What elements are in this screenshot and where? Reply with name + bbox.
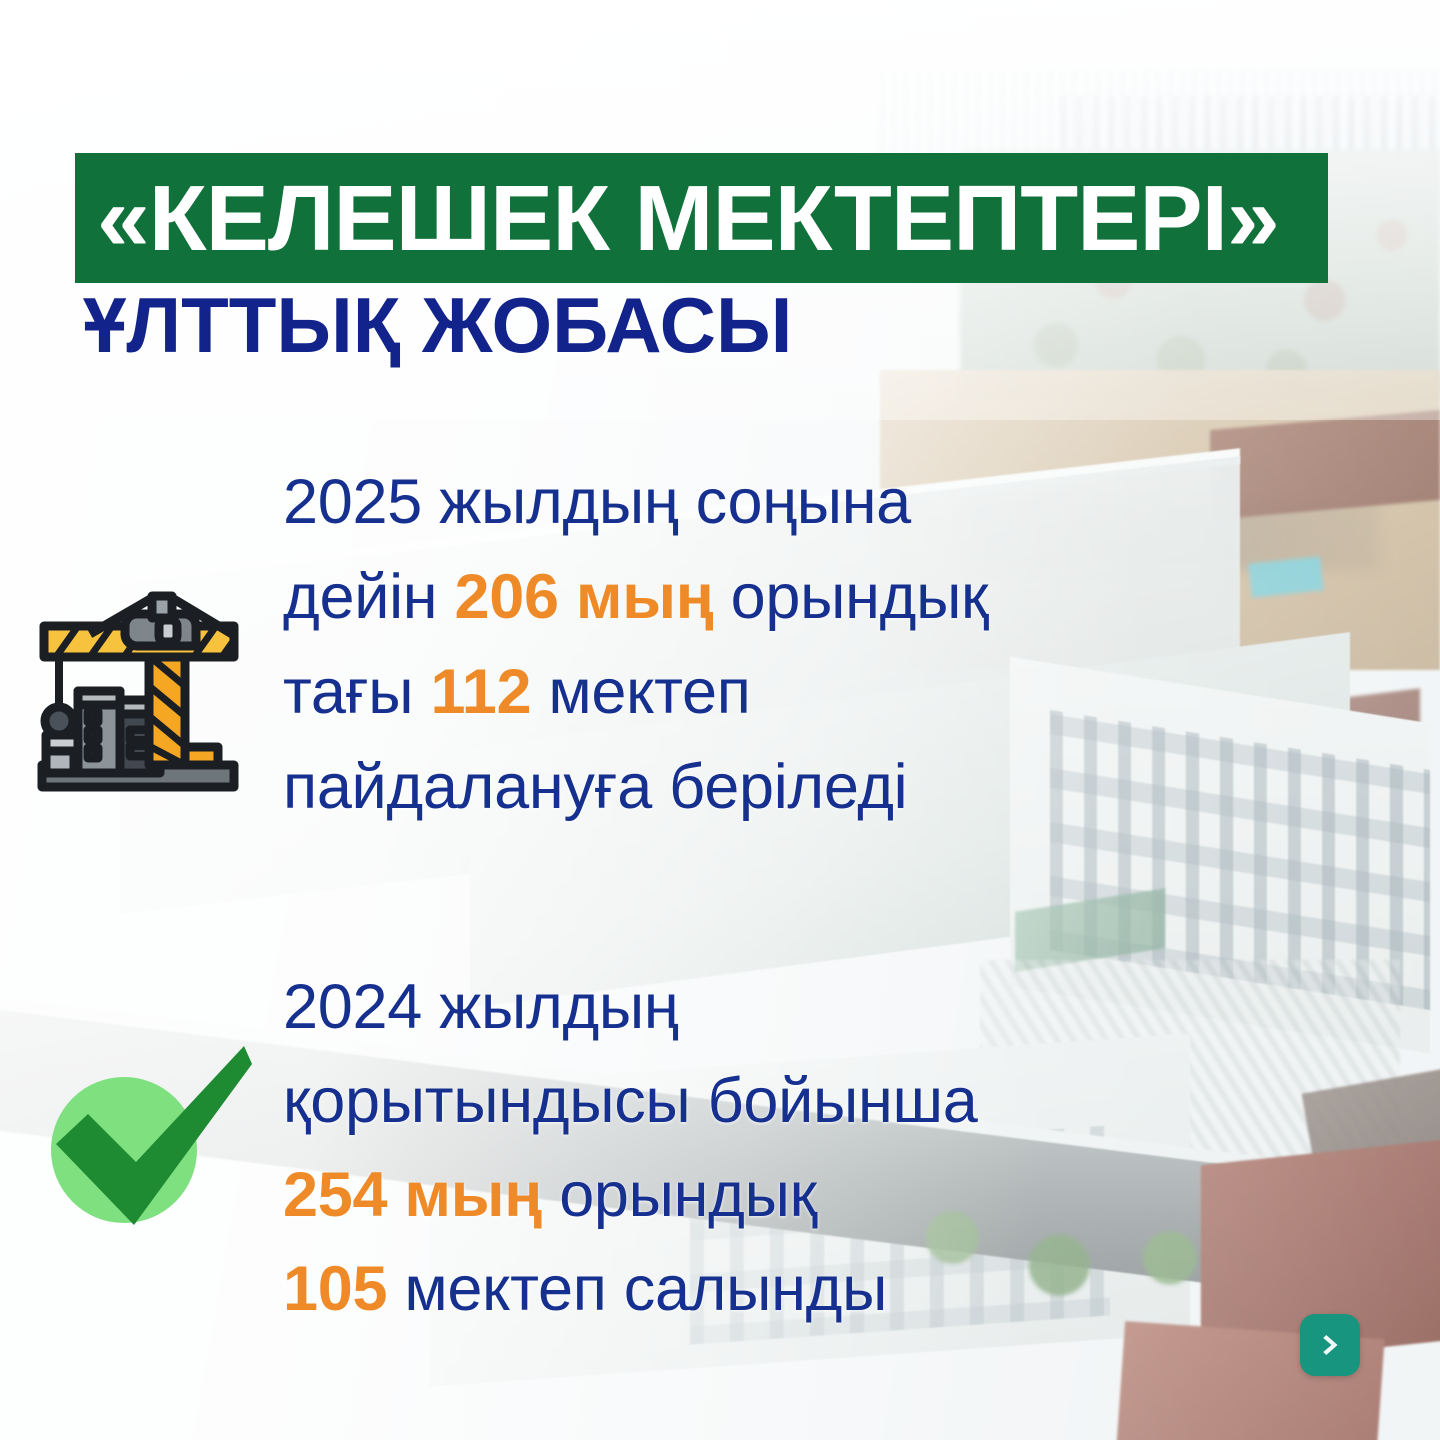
stat-plain-text: орындық — [713, 562, 988, 632]
page-title: «КЕЛЕШЕК МЕКТЕПТЕРІ» — [97, 172, 1279, 265]
stat-plain-text: мектеп — [531, 657, 750, 727]
stat-plain-text: дейін — [283, 562, 454, 632]
stat-line: тағы 112 мектеп — [283, 645, 1343, 740]
stat-line: қорытындысы бойынша — [283, 1054, 1343, 1148]
stat-highlight-value: 105 — [283, 1254, 387, 1324]
stat-plain-text: тағы — [283, 657, 430, 727]
stat-plain-text: орындық — [542, 1160, 817, 1230]
stat-line: 254 мың орындық — [283, 1148, 1343, 1242]
chevron-right-icon — [1315, 1330, 1345, 1360]
stat-plain-text: мектеп салынды — [387, 1254, 887, 1324]
stat-plain-text: 2024 жылдың — [283, 972, 678, 1042]
page-subtitle: ҰЛТТЫҚ ЖОБАСЫ — [83, 286, 792, 364]
stat-plain-text: қорытындысы бойынша — [283, 1066, 977, 1136]
stat-highlight-value: 112 — [430, 657, 531, 727]
infographic-poster: «КЕЛЕШЕК МЕКТЕПТЕРІ» ҰЛТТЫҚ ЖОБАСЫ 2025 … — [0, 0, 1440, 1440]
title-banner: «КЕЛЕШЕК МЕКТЕПТЕРІ» — [75, 153, 1328, 283]
stat-line: пайдалануға беріледі — [283, 740, 1343, 835]
stat-plain-text: 2025 жылдың соңына — [283, 467, 911, 537]
next-slide-button[interactable] — [1300, 1314, 1360, 1376]
stat-highlight-value: 206 мың — [454, 562, 713, 632]
stat-highlight-value: 254 мың — [283, 1160, 542, 1230]
stat-text-done: 2024 жылдыңқорытындысы бойынша254 мың ор… — [283, 960, 1343, 1336]
stat-text-future: 2025 жылдың соңынадейін 206 мың орындықт… — [283, 455, 1343, 835]
stat-line: 105 мектеп салынды — [283, 1242, 1343, 1336]
stat-line: дейін 206 мың орындық — [283, 550, 1343, 645]
construction-crane-icon — [26, 582, 250, 800]
stat-line: 2024 жылдың — [283, 960, 1343, 1054]
stat-line: 2025 жылдың соңына — [283, 455, 1343, 550]
stat-plain-text: пайдалануға беріледі — [283, 752, 907, 822]
green-check-icon — [48, 1040, 254, 1236]
